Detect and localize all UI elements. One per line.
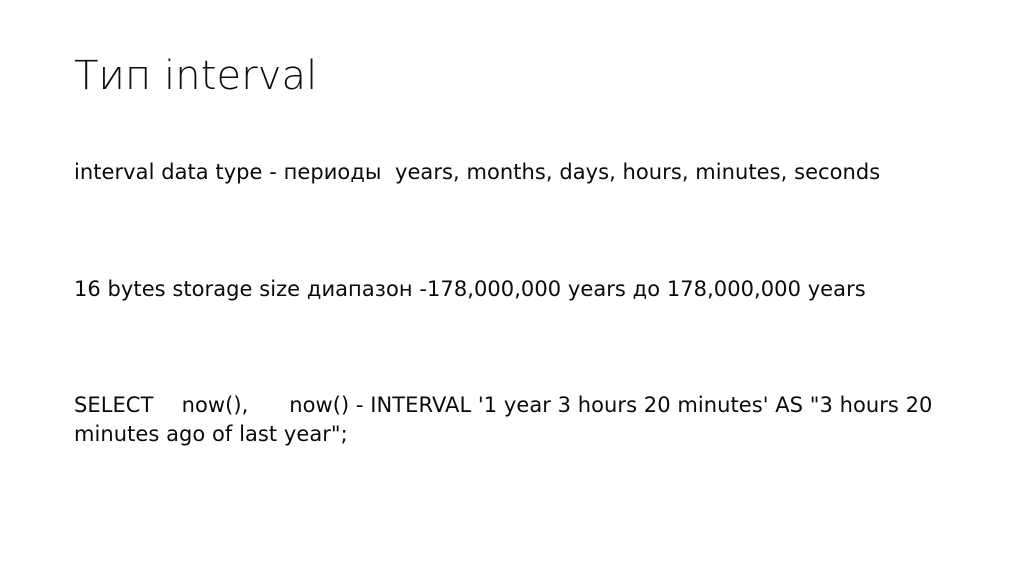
paragraph-interval-definition: interval data type - периоды years, mont… bbox=[74, 158, 904, 187]
page-title: Тип interval bbox=[74, 52, 934, 100]
paragraph-storage-range: 16 bytes storage size диапазон -178,000,… bbox=[74, 275, 904, 304]
paragraph-sql-example: SELECT now(), now() - INTERVAL '1 year 3… bbox=[74, 391, 954, 449]
slide-canvas: Тип interval interval data type - период… bbox=[0, 0, 1024, 574]
